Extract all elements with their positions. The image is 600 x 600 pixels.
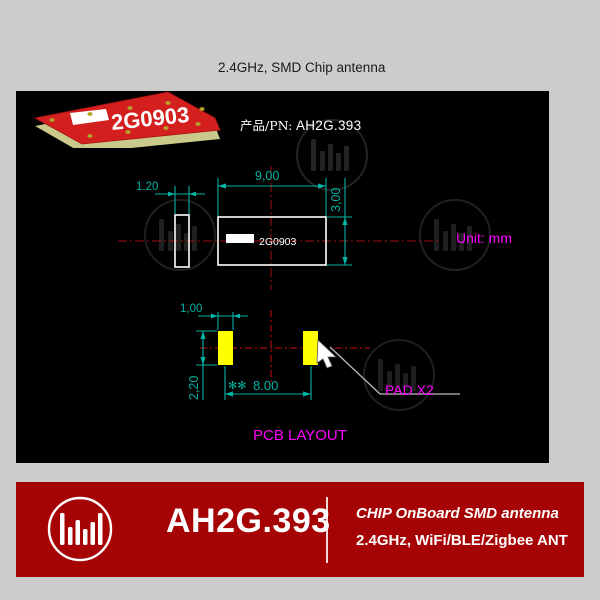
pcb-3d-render: 2G0903	[20, 48, 240, 148]
footer-divider	[326, 497, 328, 563]
brand-logo-icon	[46, 495, 114, 568]
footer-banner: AH2G.393 CHIP OnBoard SMD antenna 2.4GHz…	[16, 482, 584, 577]
watermark-logo-left	[142, 197, 218, 273]
pad-label: PAD X2	[385, 382, 434, 398]
header-caption: 2.4GHz, SMD Chip antenna	[218, 60, 385, 75]
footer-description-line2: 2.4GHz, WiFi/BLE/Zigbee ANT	[356, 532, 568, 549]
footer-part-number: AH2G.393	[166, 502, 331, 541]
footer-description-line1: CHIP OnBoard SMD antenna	[356, 505, 559, 522]
unit-label: Unit: mm	[456, 230, 512, 246]
pn-value: AH2G.393	[296, 118, 361, 133]
datasheet-page: 2.4GHz, SMD Chip antenna	[0, 0, 600, 600]
pn-label: 产品/PN:	[240, 118, 292, 133]
part-number-line: 产品/PN: AH2G.393	[240, 115, 361, 134]
watermark-logo-bottom	[361, 337, 437, 413]
pcb-layout-label: PCB LAYOUT	[253, 427, 347, 444]
